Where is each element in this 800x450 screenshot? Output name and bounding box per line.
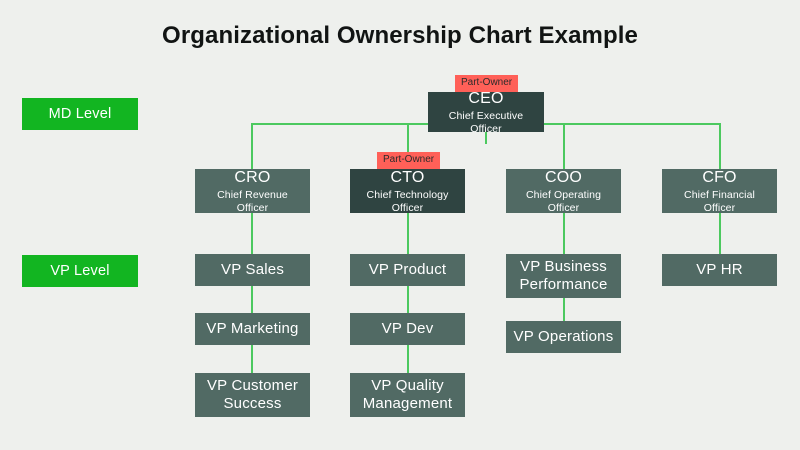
node-vp-sales-title: VP Sales [221,261,284,279]
node-vp-customer-success[interactable]: VP Customer Success [195,373,310,417]
node-vp-marketing[interactable]: VP Marketing [195,313,310,345]
node-vp-business-performance-title: VP Business Performance [512,258,615,294]
org-chart: Organizational Ownership Chart Example M… [0,0,800,450]
node-ceo-subtitle: Chief Executive Officer [434,110,538,136]
node-vp-hr-title: VP HR [696,261,743,279]
node-vp-operations-title: VP Operations [514,328,614,346]
node-vp-hr[interactable]: VP HR [662,254,777,286]
connector-bus-to-coo [563,123,565,169]
node-cto-title: CTO [390,168,424,187]
node-vp-customer-success-title: VP Customer Success [201,377,304,413]
node-vp-quality-management-title: VP Quality Management [356,377,459,413]
node-vp-dev[interactable]: VP Dev [350,313,465,345]
node-cfo-subtitle: Chief Financial Officer [668,189,771,215]
node-vp-product-title: VP Product [369,261,447,279]
node-cro-subtitle: Chief Revenue Officer [201,189,304,215]
node-cro-title: CRO [234,168,270,187]
node-vp-quality-management[interactable]: VP Quality Management [350,373,465,417]
node-vp-sales[interactable]: VP Sales [195,254,310,286]
node-cfo-title: CFO [702,168,736,187]
node-cfo[interactable]: CFO Chief Financial Officer [662,169,777,213]
node-coo-title: COO [545,168,582,187]
node-vp-dev-title: VP Dev [382,320,434,338]
node-ceo[interactable]: CEO Chief Executive Officer [428,92,544,132]
connector-bus-to-cfo [719,123,721,169]
badge-part-owner-cto: Part-Owner [377,152,440,169]
node-cro[interactable]: CRO Chief Revenue Officer [195,169,310,213]
node-vp-operations[interactable]: VP Operations [506,321,621,353]
node-cto-subtitle: Chief Technology Officer [356,189,459,215]
node-ceo-title: CEO [468,89,503,108]
connector-cto-spine [407,213,409,380]
node-vp-marketing-title: VP Marketing [206,320,298,338]
node-cto[interactable]: CTO Chief Technology Officer [350,169,465,213]
node-vp-business-performance[interactable]: VP Business Performance [506,254,621,298]
node-coo-subtitle: Chief Operating Officer [512,189,615,215]
node-vp-product[interactable]: VP Product [350,254,465,286]
node-coo[interactable]: COO Chief Operating Officer [506,169,621,213]
connector-cro-spine [251,213,253,380]
connector-bus-to-cro [251,123,253,169]
connector-cfo-spine [719,213,721,254]
